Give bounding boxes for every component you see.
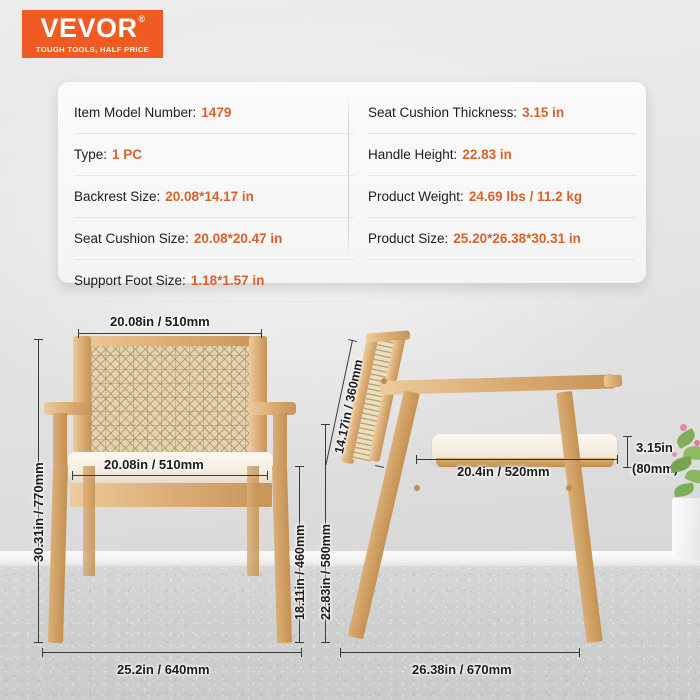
dim-cap — [416, 455, 417, 464]
plant-flower — [672, 452, 677, 457]
spec-label: Item Model Number: — [74, 105, 196, 120]
dim-cap — [321, 424, 330, 425]
dim-cap — [623, 436, 632, 437]
dim-cushion-thickness-line — [627, 436, 628, 468]
plant-flower — [680, 424, 687, 431]
joint-dowel — [414, 485, 420, 491]
spec-row: Support Foot Size: 1.18*1.57 in — [74, 260, 354, 302]
dim-cap — [267, 471, 268, 480]
dim-seat-height-label: 18.11in / 460mm — [293, 525, 307, 620]
dim-cap — [295, 466, 304, 467]
dim-cap — [78, 329, 79, 338]
spec-value: 24.69 lbs / 11.2 kg — [469, 189, 582, 204]
arm-support-right — [273, 413, 287, 465]
armrest-right — [248, 402, 296, 415]
spec-label: Backrest Size: — [74, 189, 160, 204]
arm-support-left — [53, 413, 67, 465]
spec-value: 1479 — [201, 105, 231, 120]
baseboard — [0, 551, 700, 567]
dim-cap — [34, 642, 43, 643]
dim-cap — [617, 455, 618, 464]
dim-overall-width-label: 25.2in / 640mm — [117, 662, 210, 677]
spec-label: Seat Cushion Size: — [74, 231, 189, 246]
spec-value: 20.08*14.17 in — [165, 189, 254, 204]
rattan-cane-backrest — [91, 346, 249, 454]
dim-cap — [261, 329, 262, 338]
joint-dowel — [566, 485, 572, 491]
dim-seat-depth-label: 20.4in / 520mm — [457, 464, 550, 479]
rear-leg-right — [247, 466, 259, 576]
spec-value: 22.83 in — [462, 147, 512, 162]
spec-label: Support Foot Size: — [74, 273, 186, 288]
spec-row: Seat Cushion Thickness: 3.15 in — [368, 92, 636, 134]
spec-column-left: Item Model Number: 1479 Type: 1 PC Backr… — [74, 92, 354, 302]
vevor-logo: VEVOR® TOUGH TOOLS, HALF PRICE — [22, 10, 163, 58]
dim-cap — [295, 642, 304, 643]
spec-row: Handle Height: 22.83 in — [368, 134, 636, 176]
backrest-right-stile — [249, 336, 267, 460]
backrest-top-rail — [73, 336, 267, 346]
armrest-front-tip — [604, 375, 622, 387]
dim-overall-depth-line — [340, 652, 580, 653]
spec-label: Seat Cushion Thickness: — [368, 105, 517, 120]
dim-cushion-thickness-label-1: 3.15in — [636, 440, 673, 455]
spec-value: 1 PC — [112, 147, 142, 162]
spec-row: Seat Cushion Size: 20.08*20.47 in — [74, 218, 354, 260]
logo-wordmark: VEVOR® — [40, 15, 144, 42]
spec-label: Type: — [74, 147, 107, 162]
spec-row: Product Weight: 24.69 lbs / 11.2 kg — [368, 176, 636, 218]
dim-arm-height-label: 22.83in / 580mm — [319, 524, 333, 620]
spec-label: Handle Height: — [368, 147, 457, 162]
dim-backrest-width-line — [78, 333, 262, 334]
spec-row: Type: 1 PC — [74, 134, 354, 176]
spec-column-right: Seat Cushion Thickness: 3.15 in Handle H… — [368, 92, 636, 260]
dim-cap — [623, 467, 632, 468]
spec-label: Product Weight: — [368, 189, 464, 204]
spec-label: Product Size: — [368, 231, 448, 246]
spec-row: Backrest Size: 20.08*14.17 in — [74, 176, 354, 218]
dim-cap — [301, 648, 302, 657]
backrest-left-stile — [73, 336, 91, 460]
dim-seat-width-line — [72, 475, 268, 476]
dim-backrest-width-label: 20.08in / 510mm — [110, 314, 210, 329]
spec-value: 3.15 in — [522, 105, 564, 120]
dim-overall-width-line — [42, 652, 302, 653]
dim-overall-depth-label: 26.38in / 670mm — [412, 662, 512, 677]
armrest-left — [44, 402, 92, 415]
dim-cap — [42, 648, 43, 657]
spec-row: Product Size: 25.20*26.38*30.31 in — [368, 218, 636, 260]
spec-value: 25.20*26.38*30.31 in — [453, 231, 581, 246]
dim-seat-width-label: 20.08in / 510mm — [104, 457, 204, 472]
plant-flower — [694, 440, 700, 446]
logo-tagline: TOUGH TOOLS, HALF PRICE — [36, 45, 149, 54]
dim-cap — [340, 648, 341, 657]
rear-leg-left — [83, 466, 95, 576]
dim-seat-depth-line — [416, 459, 618, 460]
joint-dowel — [381, 378, 387, 384]
registered-trademark-icon: ® — [138, 15, 145, 24]
product-dimension-image: VEVOR® TOUGH TOOLS, HALF PRICE Item Mode… — [0, 0, 700, 700]
seat-apron — [70, 483, 272, 507]
dim-cap — [321, 642, 330, 643]
spec-value: 1.18*1.57 in — [191, 273, 265, 288]
dim-cap — [72, 471, 73, 480]
plant-pot — [672, 498, 700, 560]
spec-value: 20.08*20.47 in — [194, 231, 283, 246]
dim-cap — [579, 648, 580, 657]
dim-total-height-label: 30.31in / 770mm — [31, 462, 46, 562]
spec-row: Item Model Number: 1479 — [74, 92, 354, 134]
dim-cap — [34, 339, 43, 340]
